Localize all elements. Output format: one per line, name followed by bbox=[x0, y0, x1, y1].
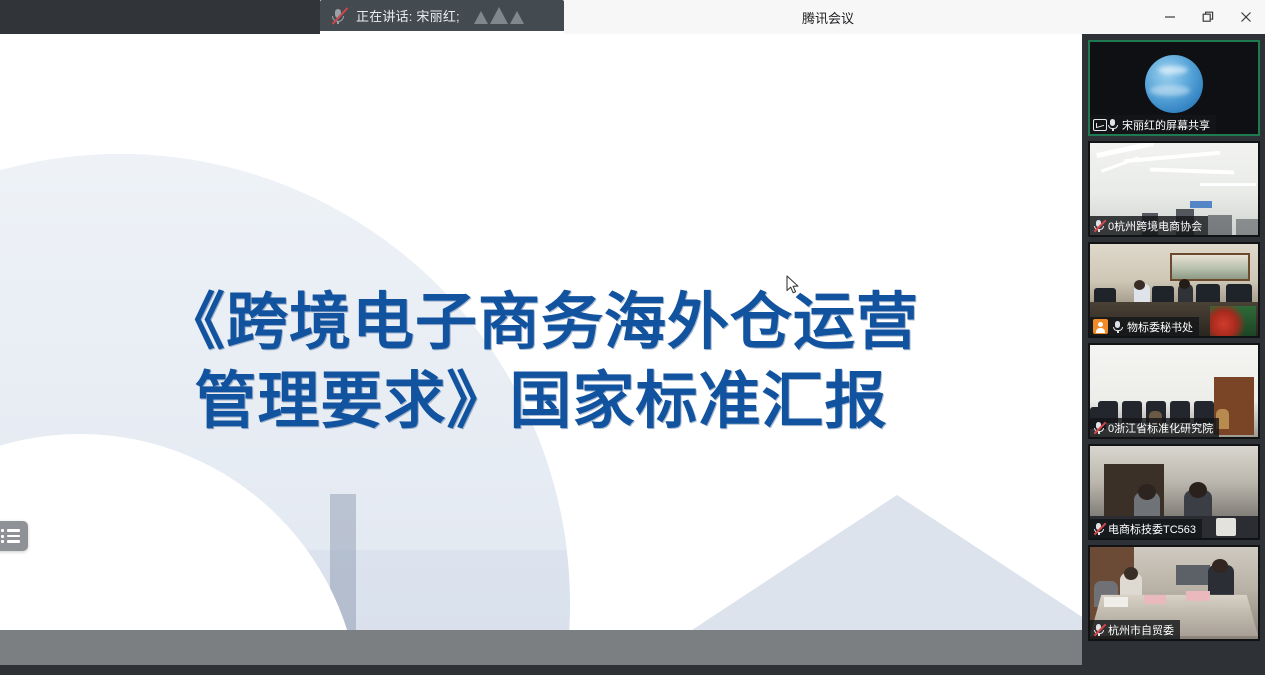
slide-title-line-2: 管理要求》国家标准汇报 bbox=[0, 361, 1082, 440]
participant-tile-screen-share[interactable]: 宋丽红的屏幕共享 bbox=[1088, 40, 1260, 136]
tile-name: 宋丽红的屏幕共享 bbox=[1122, 117, 1210, 133]
share-bottom-band bbox=[0, 665, 1082, 675]
restore-icon bbox=[1202, 11, 1214, 23]
tile-namebar: 宋丽红的屏幕共享 bbox=[1090, 115, 1216, 134]
mic-muted-icon bbox=[1093, 421, 1105, 435]
slide-title: 《跨境电子商务海外仓运营 管理要求》国家标准汇报 bbox=[0, 282, 1082, 441]
mic-muted-icon bbox=[328, 6, 348, 26]
participant-tile-hangzhou-ftz[interactable]: 杭州市自贸委 bbox=[1088, 545, 1260, 641]
minimize-icon bbox=[1164, 11, 1176, 23]
mic-muted-icon bbox=[1093, 219, 1105, 233]
mic-muted-icon bbox=[1093, 522, 1105, 536]
mouse-cursor-icon bbox=[786, 275, 800, 295]
tile-name: 杭州市自贸委 bbox=[1108, 622, 1174, 638]
window-controls bbox=[1151, 0, 1265, 34]
mic-muted-icon bbox=[1093, 623, 1105, 637]
speaking-waveform-icon bbox=[474, 7, 524, 24]
shared-screen-area[interactable]: 《跨境电子商务海外仓运营 管理要求》国家标准汇报 bbox=[0, 34, 1082, 675]
tile-name: 0杭州跨境电商协会 bbox=[1108, 218, 1202, 234]
mic-icon bbox=[1107, 118, 1119, 132]
presentation-slide: 《跨境电子商务海外仓运营 管理要求》国家标准汇报 bbox=[0, 34, 1082, 630]
slide-title-line-1: 《跨境电子商务海外仓运营 bbox=[0, 282, 1082, 361]
participant-tile-wubiaowei-secretariat[interactable]: 物标委秘书处 bbox=[1088, 242, 1260, 338]
screen-share-icon bbox=[1093, 119, 1107, 131]
tab-tencent-meeting[interactable]: 腾讯会议 bbox=[802, 8, 854, 27]
participant-tile-hangzhou-association[interactable]: 0杭州跨境电商协会 bbox=[1088, 141, 1260, 237]
title-bar-left-spacer bbox=[0, 0, 320, 34]
participant-filmstrip[interactable]: 宋丽红的屏幕共享 0杭州跨境电商协会 bbox=[1082, 34, 1265, 675]
tile-namebar: 杭州市自贸委 bbox=[1090, 620, 1180, 639]
host-badge-icon bbox=[1093, 319, 1108, 334]
slide-mountain-shape bbox=[692, 495, 1082, 630]
tile-name: 0浙江省标准化研究院 bbox=[1108, 420, 1213, 436]
ppt-menu-button[interactable] bbox=[0, 521, 28, 551]
speaking-label: 正在讲话: 宋丽红; bbox=[356, 6, 460, 25]
title-bar: 正在讲话: 宋丽红; 腾讯会议 bbox=[0, 0, 1265, 34]
share-letterbox-band bbox=[0, 630, 1082, 665]
tab-strip: 腾讯会议 bbox=[564, 0, 1265, 34]
tile-name: 电商标技委TC563 bbox=[1108, 521, 1196, 537]
participant-tile-tc563[interactable]: 电商标技委TC563 bbox=[1088, 444, 1260, 540]
mic-icon bbox=[1112, 320, 1124, 334]
tencent-meeting-window: 正在讲话: 宋丽红; 腾讯会议 bbox=[0, 0, 1265, 675]
restore-button[interactable] bbox=[1189, 0, 1227, 34]
tile-namebar: 0浙江省标准化研究院 bbox=[1090, 418, 1219, 437]
close-button[interactable] bbox=[1227, 0, 1265, 34]
minimize-button[interactable] bbox=[1151, 0, 1189, 34]
speaking-indicator[interactable]: 正在讲话: 宋丽红; bbox=[320, 0, 564, 31]
tile-namebar: 0杭州跨境电商协会 bbox=[1090, 216, 1208, 235]
tile-namebar: 电商标技委TC563 bbox=[1090, 519, 1202, 538]
tile-namebar: 物标委秘书处 bbox=[1090, 317, 1199, 336]
participant-tile-zhejiang-standardization[interactable]: 0浙江省标准化研究院 bbox=[1088, 343, 1260, 439]
ppt-menu-icon bbox=[1, 527, 20, 546]
close-icon bbox=[1240, 11, 1252, 23]
tile-name: 物标委秘书处 bbox=[1127, 319, 1193, 335]
avatar bbox=[1145, 55, 1203, 113]
